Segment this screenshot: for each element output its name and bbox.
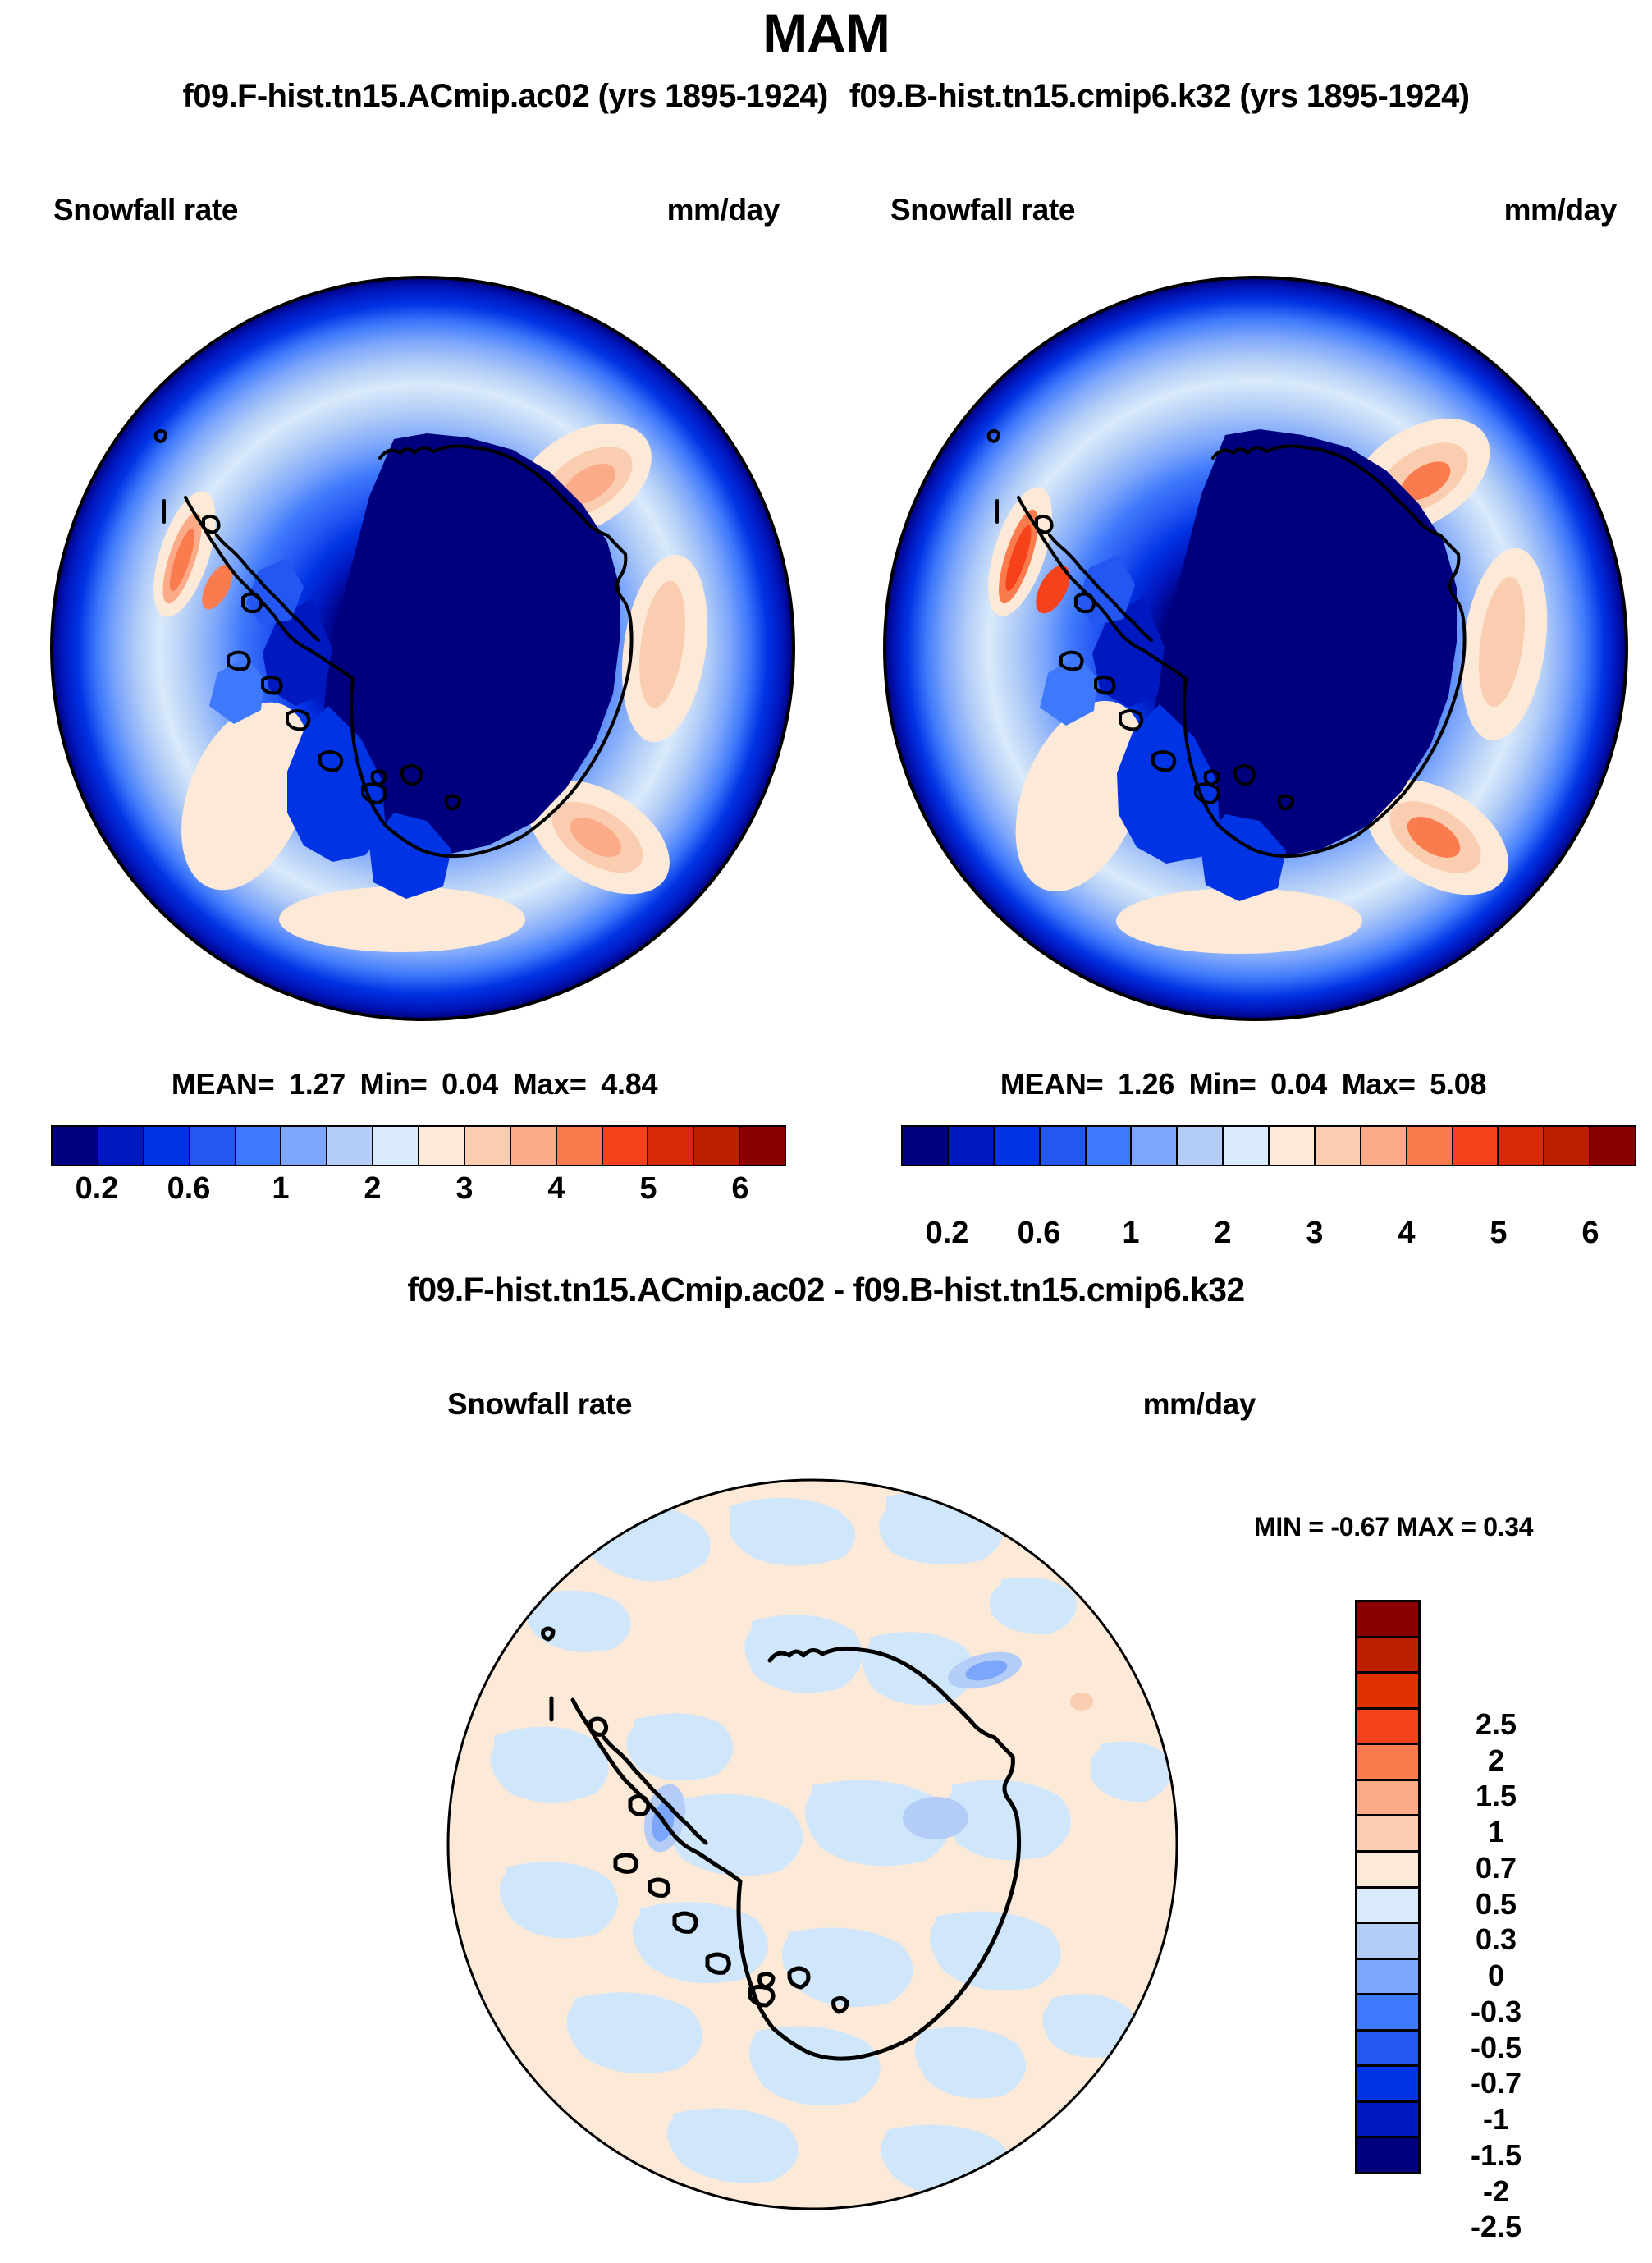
colorbar-swatch — [1357, 1995, 1418, 2032]
colorbar-tick-label: 0.6 — [167, 1171, 211, 1207]
colorbar-swatch — [144, 1127, 190, 1165]
colorbar-tick-label: 2 — [364, 1171, 381, 1207]
colorbar-swatch — [1357, 1638, 1418, 1674]
left-map-svg — [41, 271, 804, 1026]
colorbar-swatch — [1357, 1674, 1418, 1710]
colorbar-tick-label: 0.6 — [1018, 1216, 1061, 1251]
left-colorbar-ticks: 0.20.6123456 — [51, 1168, 786, 1212]
left-panel-units-label: mm/day — [667, 193, 780, 227]
colorbar-tick-label: 1.5 — [1435, 1779, 1558, 1813]
left-panel-header: Snowfall rate mm/day — [8, 193, 796, 229]
season-title: MAM — [0, 2, 1652, 64]
colorbar-swatch — [1499, 1127, 1544, 1165]
right-panel-stats: MEAN= 1.26 Min= 0.04 Max= 5.08 — [874, 1067, 1613, 1102]
colorbar-swatch — [1041, 1127, 1087, 1165]
colorbar-swatch — [465, 1127, 511, 1165]
colorbar-swatch — [1590, 1127, 1635, 1165]
right-colorbar-ticks: 0.20.6123456 — [901, 1212, 1636, 1257]
right-panel-units-label: mm/day — [1504, 193, 1617, 227]
colorbar-tick-label: 1 — [1435, 1815, 1558, 1849]
colorbar-swatch — [557, 1127, 603, 1165]
colorbar-swatch — [1357, 1816, 1418, 1853]
colorbar-swatch — [1357, 2032, 1418, 2068]
left-mean-value: 1.27 — [289, 1067, 346, 1101]
right-panel-variable-label: Snowfall rate — [890, 193, 1075, 227]
colorbar-swatch — [190, 1127, 236, 1165]
colorbar-swatch — [1132, 1127, 1178, 1165]
colorbar-swatch — [903, 1127, 949, 1165]
colorbar-swatch — [949, 1127, 995, 1165]
colorbar-tick-label: -1 — [1435, 2102, 1558, 2137]
colorbar-tick-label: 0.3 — [1435, 1922, 1558, 1957]
colorbar-tick-label: 0 — [1435, 1958, 1558, 1993]
right-max-label: Max= — [1342, 1067, 1416, 1101]
diff-map-contours — [448, 1480, 1177, 2209]
right-panel-header: Snowfall rate mm/day — [845, 193, 1633, 229]
diff-panel-map — [427, 1473, 1206, 2212]
left-mean-label: MEAN= — [172, 1067, 275, 1101]
colorbar-swatch — [1544, 1127, 1590, 1165]
colorbar-tick-label: 4 — [547, 1171, 565, 1207]
diff-max-value: 0.34 — [1483, 1512, 1533, 1541]
colorbar-swatch — [1357, 1889, 1418, 1925]
colorbar-tick-label: 5 — [1490, 1216, 1507, 1251]
left-panel-variable-label: Snowfall rate — [53, 193, 238, 227]
diff-panel-variable-label: Snowfall rate — [447, 1387, 632, 1422]
left-min-value: 0.04 — [442, 1067, 498, 1101]
colorbar-swatch — [1407, 1127, 1453, 1165]
colorbar-swatch — [603, 1127, 649, 1165]
diff-min-value: -0.67 — [1330, 1512, 1389, 1541]
colorbar-tick-label: -1.5 — [1435, 2138, 1558, 2173]
colorbar-tick-label: 6 — [731, 1171, 748, 1207]
colorbar-swatch — [1357, 1602, 1418, 1638]
colorbar-swatch — [1357, 1960, 1418, 1996]
right-map-contours — [885, 277, 1627, 1019]
colorbar-tick-label: 5 — [639, 1171, 657, 1207]
right-min-label: Min= — [1189, 1067, 1256, 1101]
colorbar-swatch — [1357, 1710, 1418, 1746]
right-min-value: 0.04 — [1270, 1067, 1327, 1101]
colorbar-swatch — [511, 1127, 557, 1165]
colorbar-swatch — [1087, 1127, 1133, 1165]
colorbar-tick-label: 0.7 — [1435, 1851, 1558, 1885]
colorbar-tick-label: 2.5 — [1435, 1707, 1558, 1742]
colorbar-swatch — [1357, 1781, 1418, 1817]
diff-max-label: MAX = — [1396, 1512, 1476, 1541]
right-mean-value: 1.26 — [1118, 1067, 1174, 1101]
left-min-label: Min= — [360, 1067, 428, 1101]
diff-map-svg — [427, 1473, 1206, 2212]
right-mean-label: MEAN= — [1000, 1067, 1104, 1101]
colorbar-tick-label: 2 — [1214, 1216, 1231, 1251]
case-title-right: f09.B-hist.tn15.cmip6.k32 (yrs 1895-1924… — [849, 78, 1470, 115]
left-map-contours — [52, 277, 794, 1019]
colorbar-swatch — [995, 1127, 1041, 1165]
case-titles-row: f09.F-hist.tn15.ACmip.ac02 (yrs 1895-192… — [0, 78, 1652, 115]
colorbar-swatch — [1361, 1127, 1407, 1165]
colorbar-swatch — [1316, 1127, 1361, 1165]
colorbar-swatch — [1357, 1853, 1418, 1889]
colorbar-tick-label: -0.3 — [1435, 1995, 1558, 2029]
colorbar-tick-label: 2 — [1435, 1743, 1558, 1778]
colorbar-swatch — [53, 1127, 98, 1165]
colorbar-swatch — [1270, 1127, 1316, 1165]
diff-min-label: MIN = — [1254, 1512, 1324, 1541]
colorbar-tick-label: 0.5 — [1435, 1887, 1558, 1922]
diff-panel-units-label: mm/day — [1143, 1387, 1256, 1422]
colorbar-tick-label: -0.5 — [1435, 2031, 1558, 2065]
colorbar-swatch — [648, 1127, 694, 1165]
diff-colorbar[interactable] — [1355, 1600, 1421, 2174]
colorbar-swatch — [419, 1127, 465, 1165]
diff-minmax-stats: MIN = -0.67 MAX = 0.34 — [1254, 1512, 1533, 1542]
colorbar-swatch — [740, 1127, 785, 1165]
colorbar-tick-label: 0.2 — [926, 1216, 969, 1251]
left-panel-stats: MEAN= 1.27 Min= 0.04 Max= 4.84 — [45, 1067, 784, 1102]
left-colorbar[interactable] — [51, 1125, 786, 1166]
right-colorbar[interactable] — [901, 1125, 1636, 1166]
left-panel-map — [41, 271, 804, 1026]
colorbar-swatch — [236, 1127, 282, 1165]
left-max-value: 4.84 — [601, 1067, 657, 1101]
colorbar-swatch — [1453, 1127, 1499, 1165]
colorbar-swatch — [1178, 1127, 1224, 1165]
colorbar-swatch — [1357, 1745, 1418, 1781]
colorbar-tick-label: -2.5 — [1435, 2210, 1558, 2244]
colorbar-swatch — [1357, 2103, 1418, 2139]
colorbar-swatch — [694, 1127, 740, 1165]
right-max-value: 5.08 — [1430, 1067, 1486, 1101]
colorbar-swatch — [281, 1127, 327, 1165]
colorbar-swatch — [1224, 1127, 1270, 1165]
colorbar-swatch — [1357, 2138, 1418, 2172]
diff-panel-header: Snowfall rate mm/day — [402, 1387, 1272, 1423]
colorbar-tick-label: 3 — [455, 1171, 473, 1207]
colorbar-tick-label: -2 — [1435, 2174, 1558, 2209]
colorbar-tick-label: 3 — [1306, 1216, 1323, 1251]
colorbar-swatch — [373, 1127, 419, 1165]
colorbar-tick-label: 4 — [1398, 1216, 1415, 1251]
colorbar-tick-label: -0.7 — [1435, 2066, 1558, 2100]
colorbar-swatch — [327, 1127, 373, 1165]
difference-title: f09.F-hist.tn15.ACmip.ac02 - f09.B-hist.… — [0, 1271, 1652, 1309]
colorbar-tick-label: 6 — [1581, 1216, 1599, 1251]
colorbar-tick-label: 1 — [1122, 1216, 1139, 1251]
diff-positive-patch — [1070, 1693, 1093, 1711]
colorbar-tick-label: 0.2 — [76, 1171, 119, 1207]
left-max-label: Max= — [513, 1067, 587, 1101]
colorbar-tick-label: 1 — [272, 1171, 289, 1207]
right-panel-map — [874, 271, 1637, 1026]
diff-colorbar-ticks: 2.521.510.70.50.30-0.3-0.5-0.7-1-1.5-2-2… — [1435, 1688, 1566, 2263]
colorbar-swatch — [1357, 2067, 1418, 2103]
colorbar-swatch — [1357, 1924, 1418, 1960]
colorbar-swatch — [98, 1127, 144, 1165]
case-title-left: f09.F-hist.tn15.ACmip.ac02 (yrs 1895-192… — [182, 78, 827, 115]
right-map-svg — [874, 271, 1637, 1026]
